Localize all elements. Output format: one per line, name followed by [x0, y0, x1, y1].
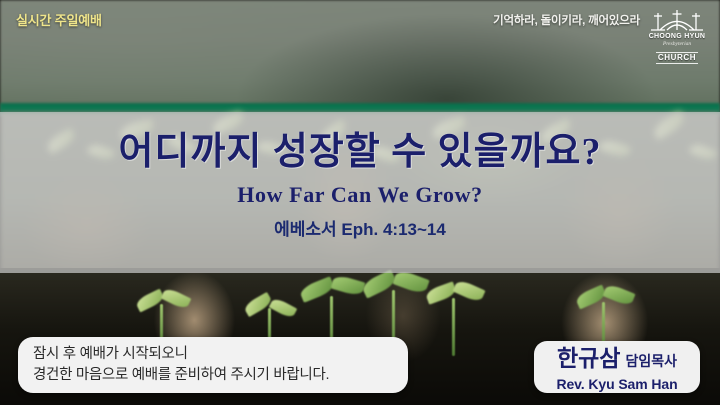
pastor-role-korean: 담임목사: [625, 353, 677, 369]
logo-church-word: CHURCH: [656, 52, 698, 64]
notice-line-1: 잠시 후 예배가 시작되오니: [33, 344, 408, 365]
logo-name-text: CHOONG HYUN: [646, 33, 708, 41]
church-building-icon: [646, 6, 708, 32]
live-broadcast-label: 실시간 주일예배: [16, 10, 102, 29]
sermon-title-english: How Far Can We Grow?: [0, 180, 720, 210]
sermon-title-block: 어디까지 성장할 수 있을까요? How Far Can We Grow? 에베…: [0, 130, 720, 242]
church-logo: CHOONG HYUN Presbyterian CHURCH: [646, 6, 708, 50]
logo-denomination-text: Presbyterian: [646, 41, 708, 47]
pastor-name-korean: 한규삼: [557, 345, 620, 371]
pastor-name-english: Rev. Kyu Sam Han: [534, 375, 700, 393]
church-motto: 기억하라, 돌이키라, 깨어있으라: [493, 12, 640, 28]
notice-line-2: 경건한 마음으로 예배를 준비하여 주시기 바랍니다.: [33, 365, 408, 386]
broadcast-slide: 실시간 주일예배 기억하라, 돌이키라, 깨어있으라: [0, 0, 720, 405]
sermon-title-korean: 어디까지 성장할 수 있을까요?: [0, 130, 720, 174]
service-notice-banner: 잠시 후 예배가 시작되오니 경건한 마음으로 예배를 준비하여 주시기 바랍니…: [18, 337, 408, 393]
sermon-scripture-reference: 에베소서 Eph. 4:13~14: [0, 218, 720, 242]
pastor-name-banner: 한규삼담임목사 Rev. Kyu Sam Han: [534, 341, 700, 393]
pastor-korean-row: 한규삼담임목사: [534, 345, 700, 375]
